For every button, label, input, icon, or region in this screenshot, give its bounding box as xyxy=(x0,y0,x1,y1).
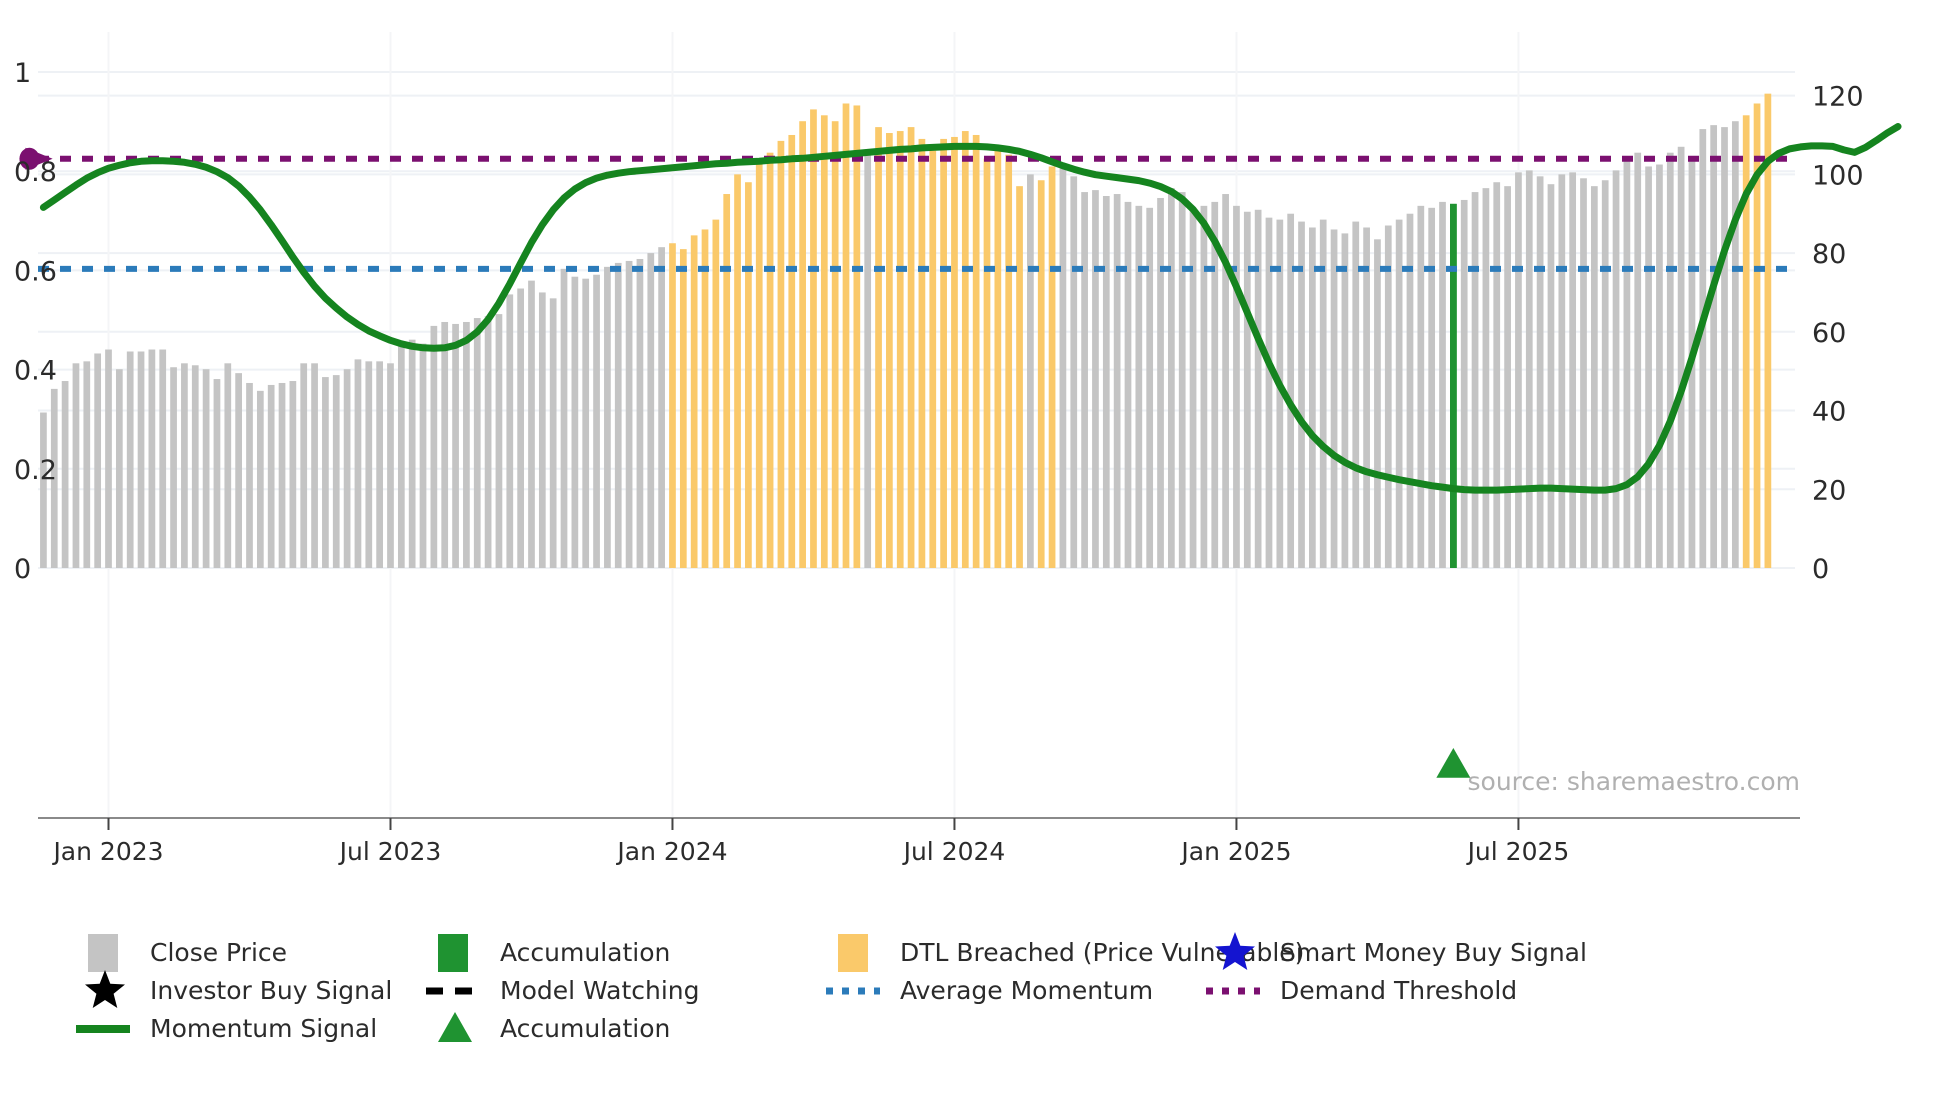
bar-close-price xyxy=(615,263,622,568)
bar-close-price xyxy=(246,383,253,568)
bar-close-price xyxy=(1081,192,1088,568)
bar-close-price xyxy=(658,247,665,568)
legend-label-smart-money-buy-signal: Smart Money Buy Signal xyxy=(1280,938,1587,967)
bar-close-price xyxy=(344,369,351,568)
bar-dtl-breached xyxy=(712,220,719,568)
bar-close-price xyxy=(1244,212,1251,568)
bar-close-price xyxy=(1146,208,1153,568)
right-axis-tick: 0 xyxy=(1812,554,1829,585)
bar-close-price xyxy=(1060,168,1067,568)
bar-close-price xyxy=(322,377,329,568)
bar-close-price xyxy=(1233,206,1240,568)
bar-close-price xyxy=(105,350,112,568)
bar-dtl-breached xyxy=(821,115,828,568)
bar-close-price xyxy=(572,277,579,568)
right-axis-tick: 40 xyxy=(1812,397,1846,428)
bar-close-price xyxy=(40,413,47,568)
bar-dtl-breached xyxy=(940,139,947,568)
bar-close-price xyxy=(398,346,405,568)
bar-close-price xyxy=(1190,208,1197,568)
bar-close-price xyxy=(1613,170,1620,568)
bar-close-price xyxy=(1678,147,1685,568)
bar-dtl-breached xyxy=(691,235,698,568)
bar-dtl-breached xyxy=(723,194,730,568)
bar-close-price xyxy=(1201,206,1208,568)
bar-dtl-breached xyxy=(994,149,1001,568)
bar-close-price xyxy=(235,373,242,568)
bar-dtl-breached xyxy=(767,153,774,568)
bar-dtl-breached xyxy=(702,229,709,568)
bar-close-price xyxy=(604,267,611,568)
bar-close-price xyxy=(1580,178,1587,568)
bar-close-price xyxy=(1721,127,1728,568)
bar-close-price xyxy=(214,379,221,568)
bar-close-price xyxy=(159,350,166,568)
bar-close-price xyxy=(1667,153,1674,568)
bar-close-price xyxy=(539,292,546,568)
legend-label-average-momentum: Average Momentum xyxy=(900,976,1153,1005)
legend-item-momentum-signal[interactable]: Momentum Signal xyxy=(76,1014,377,1043)
bar-close-price xyxy=(1211,202,1218,568)
bar-close-price xyxy=(485,316,492,568)
bar-close-price xyxy=(300,363,307,568)
momentum-signal-line xyxy=(43,127,1898,491)
bar-close-price xyxy=(224,363,231,568)
bar-dtl-breached xyxy=(951,137,958,568)
dtl-breached-swatch xyxy=(838,934,868,972)
bar-dtl-breached xyxy=(1038,180,1045,568)
bar-dtl-breached xyxy=(984,159,991,568)
left-axis-tick: 0 xyxy=(14,554,31,585)
legend-label-momentum-signal: Momentum Signal xyxy=(150,1014,377,1043)
bar-close-price xyxy=(1309,227,1316,568)
bar-close-price xyxy=(1331,229,1338,568)
bar-dtl-breached xyxy=(886,133,893,568)
bar-close-price xyxy=(268,385,275,568)
bar-dtl-breached xyxy=(680,249,687,568)
source-attribution: source: sharemaestro.com xyxy=(1468,767,1801,796)
bar-close-price xyxy=(1537,176,1544,568)
accumulation-marker xyxy=(1436,748,1470,778)
bar-close-price xyxy=(1103,196,1110,568)
bar-close-price xyxy=(365,361,372,568)
chart-legend: Close PriceAccumulationDTL Breached (Pri… xyxy=(0,925,1960,1085)
bar-close-price xyxy=(1699,129,1706,568)
bar-close-price xyxy=(127,351,134,568)
bar-close-price xyxy=(1255,210,1262,568)
left-axis-tick: 0.8 xyxy=(14,157,57,188)
bar-close-price xyxy=(333,375,340,568)
bar-close-price xyxy=(637,259,644,568)
bar-dtl-breached xyxy=(919,139,926,568)
bar-close-price xyxy=(1634,153,1641,568)
bar-close-price xyxy=(1558,174,1565,568)
accumulation-marker-triangle-icon xyxy=(438,1012,472,1042)
bar-close-price xyxy=(387,363,394,568)
bar-dtl-breached xyxy=(897,131,904,568)
bar-close-price xyxy=(1656,165,1663,568)
bar-close-price xyxy=(1298,222,1305,568)
bar-close-price xyxy=(1645,166,1652,568)
bar-close-price xyxy=(496,314,503,568)
bar-close-price xyxy=(170,367,177,568)
bar-close-price xyxy=(1548,184,1555,568)
bar-close-price xyxy=(116,369,123,568)
bar-close-price xyxy=(1342,233,1349,568)
bar-accumulation xyxy=(1450,204,1457,568)
bar-dtl-breached xyxy=(734,174,741,568)
bar-close-price xyxy=(463,322,470,568)
bar-dtl-breached xyxy=(1016,186,1023,568)
right-axis-tick: 100 xyxy=(1812,160,1864,191)
bar-close-price xyxy=(1179,192,1186,568)
bar-close-price xyxy=(626,261,633,568)
bar-close-price xyxy=(1070,176,1077,568)
bar-close-price xyxy=(257,391,264,568)
bar-close-price xyxy=(376,361,383,568)
bar-close-price xyxy=(1396,220,1403,568)
bar-close-price xyxy=(409,340,416,568)
bar-close-price xyxy=(550,298,557,568)
bar-close-price xyxy=(355,359,362,568)
left-axis-tick: 1 xyxy=(14,58,31,89)
bar-close-price xyxy=(582,279,589,568)
bar-close-price xyxy=(1439,202,1446,568)
legend-label-accumulation-marker: Accumulation xyxy=(500,1014,670,1043)
bar-close-price xyxy=(181,363,188,568)
bar-close-price xyxy=(1417,206,1424,568)
bar-close-price xyxy=(279,383,286,568)
bar-close-price xyxy=(1374,239,1381,568)
bar-close-price xyxy=(593,275,600,568)
legend-label-accumulation-bar: Accumulation xyxy=(500,938,670,967)
bar-dtl-breached xyxy=(832,121,839,568)
bar-dtl-breached xyxy=(853,105,860,568)
bar-close-price xyxy=(506,294,513,568)
bar-close-price xyxy=(1114,194,1121,568)
x-axis-tick-label: Jan 2025 xyxy=(1179,837,1291,866)
bar-dtl-breached xyxy=(810,109,817,568)
right-axis-tick: 20 xyxy=(1812,475,1846,506)
left-axis-tick: 0.6 xyxy=(14,256,57,287)
bar-close-price xyxy=(517,289,524,568)
bar-dtl-breached xyxy=(756,159,763,568)
bar-close-price xyxy=(1027,174,1034,568)
accumulation-bar-swatch xyxy=(438,934,468,972)
bar-dtl-breached xyxy=(973,135,980,568)
legend-item-accumulation-marker[interactable]: Accumulation xyxy=(438,1012,670,1043)
bar-close-price xyxy=(138,351,145,568)
bar-dtl-breached xyxy=(778,141,785,568)
bar-close-price xyxy=(561,269,568,568)
bar-dtl-breached xyxy=(843,103,850,568)
x-axis-tick-label: Jul 2024 xyxy=(902,837,1006,866)
bar-dtl-breached xyxy=(1049,166,1056,568)
legend-label-model-watching: Model Watching xyxy=(500,976,700,1005)
bar-close-price xyxy=(864,155,871,568)
x-axis-tick-label: Jul 2025 xyxy=(1466,837,1570,866)
bar-close-price xyxy=(192,365,199,568)
investor-buy-signal-star-icon xyxy=(85,970,125,1008)
x-axis-tick-label: Jan 2024 xyxy=(615,837,727,866)
bar-dtl-breached xyxy=(669,243,676,568)
bar-close-price xyxy=(311,363,318,568)
bar-close-price xyxy=(1493,182,1500,568)
bar-close-price xyxy=(1624,161,1631,568)
bar-close-price xyxy=(1732,121,1739,568)
bar-close-price xyxy=(1363,227,1370,568)
legend-label-close-price: Close Price xyxy=(150,938,287,967)
bar-dtl-breached xyxy=(745,182,752,568)
bar-close-price xyxy=(1135,206,1142,568)
bar-close-price xyxy=(149,350,156,568)
bar-close-price xyxy=(528,281,535,568)
bar-close-price xyxy=(452,324,459,568)
bar-close-price xyxy=(474,318,481,568)
bar-close-price xyxy=(1591,186,1598,568)
legend-item-model-watching[interactable]: Model Watching xyxy=(426,976,700,1005)
bar-close-price xyxy=(1515,172,1522,568)
bar-close-price xyxy=(73,363,80,568)
bar-close-price xyxy=(1483,188,1490,568)
bar-close-price xyxy=(62,381,69,568)
bar-close-price xyxy=(1569,172,1576,568)
legend-item-accumulation-bar[interactable]: Accumulation xyxy=(438,934,670,972)
bar-close-price xyxy=(1428,208,1435,568)
bar-close-price xyxy=(1504,186,1511,568)
right-axis-tick: 80 xyxy=(1812,239,1846,270)
bar-close-price xyxy=(1710,125,1717,568)
bar-close-price xyxy=(1526,170,1533,568)
x-axis-tick-label: Jan 2023 xyxy=(51,837,163,866)
bar-dtl-breached xyxy=(788,135,795,568)
bar-close-price xyxy=(431,326,438,568)
left-axis-tick: 0.4 xyxy=(14,356,57,387)
chart-root: 00.20.40.60.81020406080100120Jan 2023Jul… xyxy=(0,0,1960,1102)
bar-close-price xyxy=(1352,222,1359,568)
bar-close-price xyxy=(1472,192,1479,568)
bar-close-price xyxy=(1385,226,1392,568)
bar-close-price xyxy=(94,353,101,568)
bar-dtl-breached xyxy=(908,127,915,568)
right-axis-tick: 60 xyxy=(1812,318,1846,349)
bar-dtl-breached xyxy=(929,151,936,568)
bar-close-price xyxy=(1168,188,1175,568)
bar-close-price xyxy=(1092,190,1099,568)
close-price-swatch xyxy=(88,934,118,972)
bar-dtl-breached xyxy=(875,127,882,568)
bar-close-price xyxy=(290,381,297,568)
x-axis-tick-label: Jul 2023 xyxy=(338,837,442,866)
legend-label-demand-threshold: Demand Threshold xyxy=(1280,976,1517,1005)
legend-item-demand-threshold[interactable]: Demand Threshold xyxy=(1206,976,1517,1005)
bar-close-price xyxy=(1125,202,1132,568)
bar-close-price xyxy=(420,344,427,568)
legend-item-investor-buy-signal[interactable]: Investor Buy Signal xyxy=(85,970,392,1008)
bar-dtl-breached xyxy=(799,121,806,568)
right-axis-tick: 120 xyxy=(1812,82,1864,113)
bar-dtl-breached xyxy=(1005,155,1012,568)
bar-dtl-breached xyxy=(962,131,969,568)
left-axis-tick: 0.2 xyxy=(14,455,57,486)
bar-close-price xyxy=(441,322,448,568)
bar-close-price xyxy=(1602,180,1609,568)
bar-close-price xyxy=(83,361,90,568)
bar-close-price xyxy=(203,369,210,568)
legend-label-investor-buy-signal: Investor Buy Signal xyxy=(150,976,392,1005)
bar-close-price xyxy=(1157,198,1164,568)
legend-item-close-price[interactable]: Close Price xyxy=(88,934,287,972)
bar-close-price xyxy=(647,253,654,568)
legend-item-average-momentum[interactable]: Average Momentum xyxy=(826,976,1153,1005)
bar-close-price xyxy=(1461,200,1468,568)
